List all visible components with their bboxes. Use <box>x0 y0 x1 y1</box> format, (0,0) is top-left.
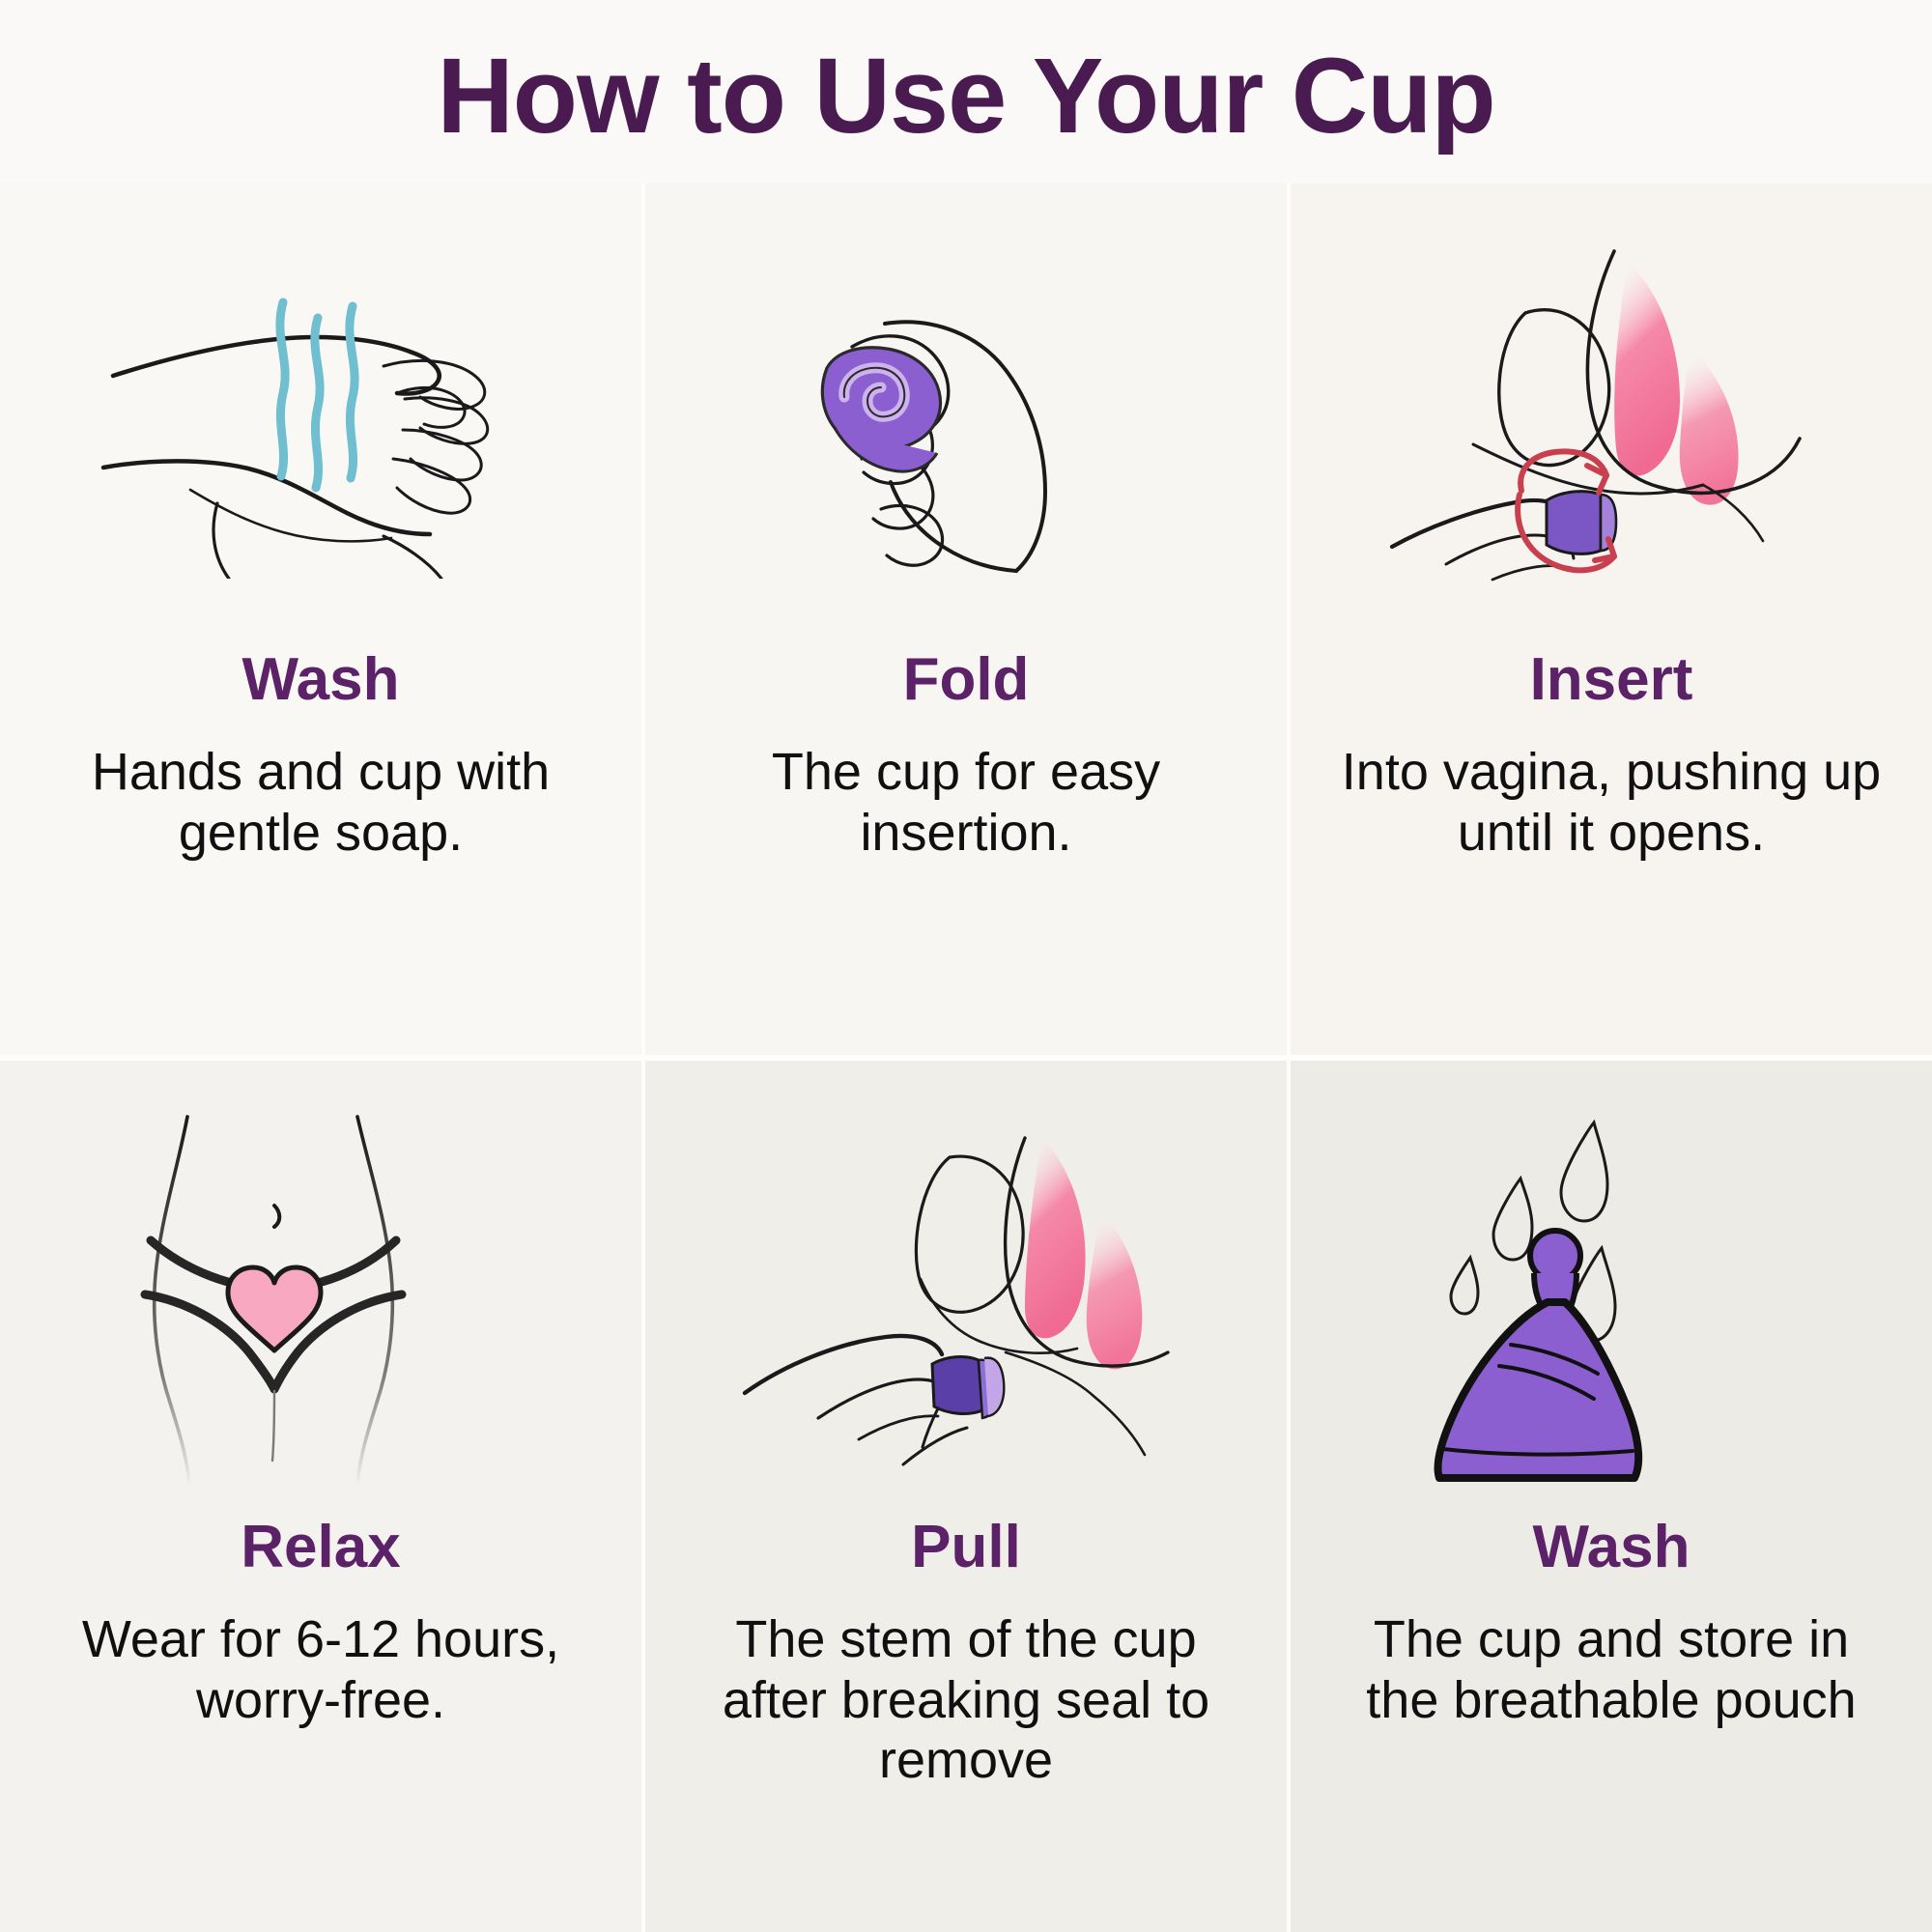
step-title: Wash <box>241 647 399 713</box>
step-card-fold-cup: Fold The cup for easy insertion. <box>645 184 1287 1055</box>
step-description: The stem of the cup after breaking seal … <box>692 1609 1240 1791</box>
step-title: Insert <box>1530 647 1693 713</box>
step-description: Into vagina, pushing up until it opens. <box>1337 742 1886 863</box>
step-card-wash-cup: Wash The cup and store in the breathable… <box>1291 1061 1932 1932</box>
infographic-page: How to Use Your Cup <box>0 0 1932 1932</box>
step-title: Relax <box>241 1515 400 1580</box>
step-title: Pull <box>911 1515 1021 1580</box>
washing-hands-icon <box>35 216 607 622</box>
cup-with-water-droplets-icon <box>1325 1094 1897 1509</box>
step-description: The cup for easy insertion. <box>692 742 1240 863</box>
step-description: Wear for 6-12 hours, worry-free. <box>46 1609 595 1730</box>
step-title: Fold <box>903 647 1030 713</box>
torso-underwear-heart-icon <box>35 1094 607 1509</box>
step-card-relax: Relax Wear for 6-12 hours, worry-free. <box>0 1061 641 1932</box>
title-bar: How to Use Your Cup <box>0 0 1932 184</box>
folded-cup-in-hand-icon <box>680 216 1252 622</box>
pull-cup-stem-icon <box>680 1094 1252 1509</box>
step-card-insert-cup: Insert Into vagina, pushing up until it … <box>1291 184 1932 1055</box>
step-card-wash-hands: Wash Hands and cup with gentle soap. <box>0 184 641 1055</box>
step-description: Hands and cup with gentle soap. <box>46 742 595 863</box>
step-title: Wash <box>1532 1515 1690 1580</box>
step-card-pull-stem: Pull The stem of the cup after breaking … <box>645 1061 1287 1932</box>
page-title: How to Use Your Cup <box>437 34 1494 150</box>
step-description: The cup and store in the breathable pouc… <box>1337 1609 1886 1730</box>
steps-grid: Wash Hands and cup with gentle soap. <box>0 184 1932 1932</box>
insert-cup-anatomy-icon <box>1325 216 1897 622</box>
